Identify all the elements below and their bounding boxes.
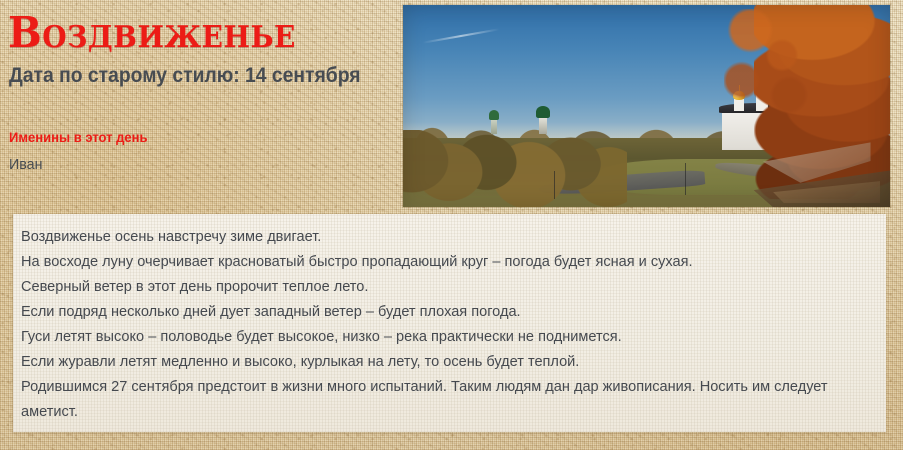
page-title: Воздвиженье [8, 10, 296, 57]
calendar-card: Воздвиженье Дата по старому стилю: 14 се… [0, 0, 903, 450]
folk-sign-item: Гуси летят высоко – половодье будет высо… [21, 324, 848, 349]
folk-sign-item: Родившимся 27 сентября предстоит в жизни… [21, 374, 848, 424]
autumn-tree-right-foliage [724, 9, 812, 114]
lamp-post-2 [685, 163, 686, 195]
folk-sign-item: На восходе луну очерчивает красноватый б… [21, 249, 848, 274]
old-style-date: Дата по старому стилю: 14 сентября [9, 63, 361, 88]
folk-signs-list: Воздвиженье осень навстречу зиме двигает… [21, 224, 874, 424]
distant-church-left-dome-icon [489, 110, 500, 120]
nameday-section-label: Именины в этот день [9, 128, 148, 146]
nameday-names: Иван [9, 155, 42, 174]
header-photo [403, 5, 890, 207]
folk-sign-item: Если журавли летят медленно и высоко, ку… [21, 349, 848, 374]
lamp-post-1 [554, 171, 555, 199]
signs-panel: Воздвиженье осень навстречу зиме двигает… [13, 214, 886, 432]
folk-sign-item: Если подряд несколько дней дует западный… [21, 299, 848, 324]
header: Воздвиженье Дата по старому стилю: 14 се… [0, 0, 400, 210]
folk-sign-item: Северный ветер в этот день пророчит тепл… [21, 274, 848, 299]
autumn-canopy-left [403, 130, 627, 207]
distant-church-mid-dome-icon [536, 106, 550, 118]
folk-sign-item: Воздвиженье осень навстречу зиме двигает… [21, 224, 848, 249]
